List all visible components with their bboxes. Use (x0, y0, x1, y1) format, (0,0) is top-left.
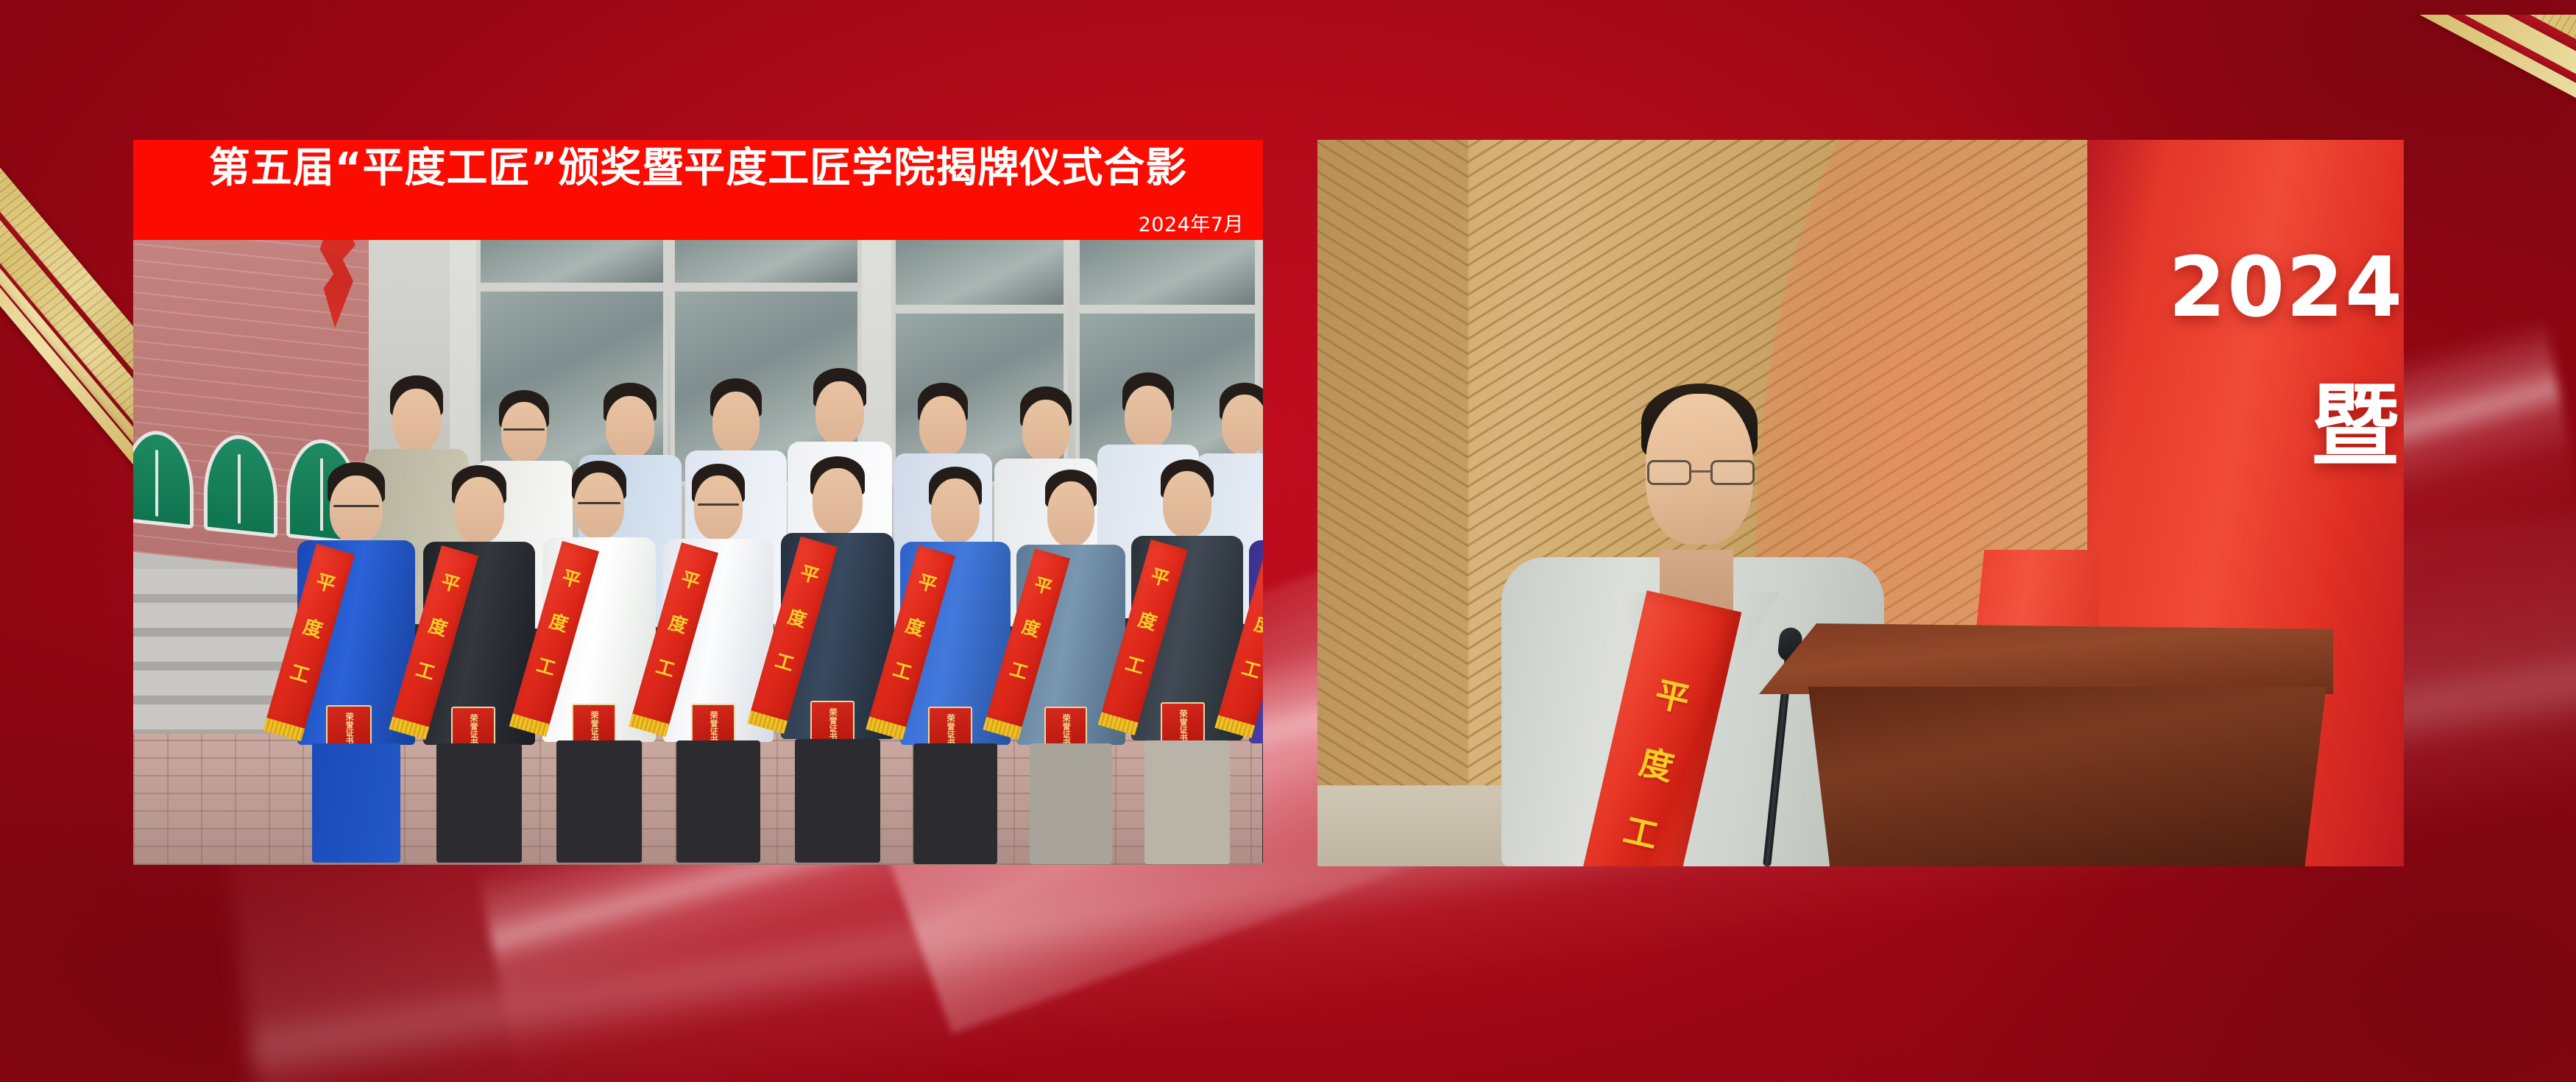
sash-char: 度 (1136, 610, 1159, 633)
sash-char: 工 (1240, 658, 1263, 681)
podium-top-surface (1759, 623, 2333, 694)
certificate-text: 荣誉证书 (1178, 710, 1187, 742)
backdrop-second-line: 暨 (2311, 383, 2399, 471)
sash-char: 平 (1032, 575, 1054, 597)
trousers (913, 743, 997, 864)
eyeglasses (333, 505, 379, 518)
sash-char: 工 (1124, 654, 1147, 676)
certificate-text: 荣誉证书 (590, 711, 598, 743)
person-front-row-awardee: 平 度 工 荣誉证书 (778, 456, 897, 863)
sash-char: 工 (891, 660, 914, 682)
trousers (795, 739, 880, 863)
sash-char: 度 (904, 616, 927, 639)
sash-char: 度 (1253, 615, 1263, 637)
person-front-row-awardee: 平 度 工 荣誉证书 (294, 462, 419, 863)
trousers (312, 743, 400, 863)
face (1125, 386, 1172, 448)
speaking-podium (1759, 623, 2333, 866)
tree-decal-trunk (155, 450, 158, 516)
eyeglasses (578, 502, 620, 515)
lens-left (1647, 460, 1691, 485)
sash-char: 度 (301, 618, 325, 641)
sash-char: 度 (427, 616, 450, 639)
certificate-text: 荣誉证书 (469, 714, 478, 746)
backdrop-year-text: 2024 (2168, 247, 2404, 329)
face (931, 478, 980, 543)
person-front-row-awardee: 平 度 工 荣誉证书 (897, 467, 1013, 864)
sash-char: 度 (667, 613, 690, 636)
face (1047, 481, 1094, 546)
wall-green-tree-decal (133, 428, 194, 529)
certificate-text: 荣誉证书 (709, 711, 718, 743)
certificate-text: 荣誉证书 (344, 713, 353, 745)
wall-green-tree-decal (204, 431, 277, 538)
face (392, 389, 441, 452)
sash-char: 平 (916, 572, 939, 595)
person-front-row-awardee: 平 度 工 荣誉证书 (1013, 470, 1128, 864)
poster-title: 第五届“平度工匠”颁奖暨平度工匠学院揭牌仪式合影 (133, 144, 1263, 193)
sash-char: 度 (1636, 745, 1677, 785)
sash-char: 平 (679, 569, 702, 592)
sash-char: 平 (439, 572, 462, 595)
wooden-wall-panel-side (1317, 140, 1468, 866)
sash-char: 工 (654, 657, 677, 679)
eyeglasses (698, 503, 739, 516)
person-front-row-awardee: 平 度 工 荣誉证书 (1128, 459, 1246, 864)
certificate-text: 荣誉证书 (946, 714, 955, 746)
sash-char: 工 (414, 660, 437, 682)
trousers (1262, 742, 1263, 864)
face (813, 468, 863, 534)
certificate-text: 荣誉证书 (1061, 714, 1070, 746)
trousers (556, 740, 642, 863)
face (454, 477, 504, 543)
photo-title-banner: 第五届“平度工匠”颁奖暨平度工匠学院揭牌仪式合影 2024年7月 (133, 140, 1263, 240)
sash-char: 工 (1008, 660, 1030, 682)
sash-char: 度 (786, 607, 809, 630)
sash-char: 平 (314, 572, 337, 595)
face (1222, 395, 1263, 455)
glasses-bridge (1691, 470, 1710, 473)
person-front-row-awardee: 平 度 工 荣誉证书 (1246, 465, 1263, 864)
trousers (436, 743, 522, 863)
face (1022, 400, 1069, 462)
speaker-podium-photo: 2024 暨 平 度 工 (1317, 140, 2404, 866)
person-front-row-awardee: 平 度 工 荣誉证书 (539, 461, 659, 863)
group-ceremony-photo: 信友善 (133, 140, 1263, 865)
sash-char: 平 (560, 567, 583, 590)
lens-right (1710, 460, 1755, 485)
trousers (1030, 743, 1112, 864)
person-front-row-awardee: 平 度 工 荣誉证书 (660, 464, 776, 863)
face (815, 381, 864, 445)
sash-char: 平 (1652, 676, 1692, 717)
sash-char: 工 (288, 662, 311, 686)
trousers (676, 740, 760, 863)
podium-body (1775, 687, 2326, 866)
eyeglasses (503, 428, 545, 440)
sash-char: 度 (548, 612, 570, 634)
trousers (1144, 740, 1230, 864)
face (1163, 471, 1211, 537)
sash-char: 度 (1020, 618, 1042, 640)
poster-subtitle: 2024年7月 (1139, 208, 1244, 237)
poster-canvas: 信友善 (0, 0, 2576, 1082)
tree-decal-trunk (238, 454, 241, 523)
sash-char: 工 (774, 651, 796, 673)
sash-char: 平 (799, 563, 821, 586)
person-front-row-awardee: 平 度 工 荣誉证书 (420, 465, 538, 863)
speaker-eyeglasses (1647, 460, 1755, 487)
face (919, 396, 966, 456)
certificate-text: 荣誉证书 (828, 708, 837, 740)
sash-char: 工 (535, 655, 558, 678)
face (606, 396, 654, 458)
face (712, 392, 760, 453)
sash-char: 平 (1149, 566, 1172, 589)
sash-char: 工 (1621, 813, 1661, 853)
